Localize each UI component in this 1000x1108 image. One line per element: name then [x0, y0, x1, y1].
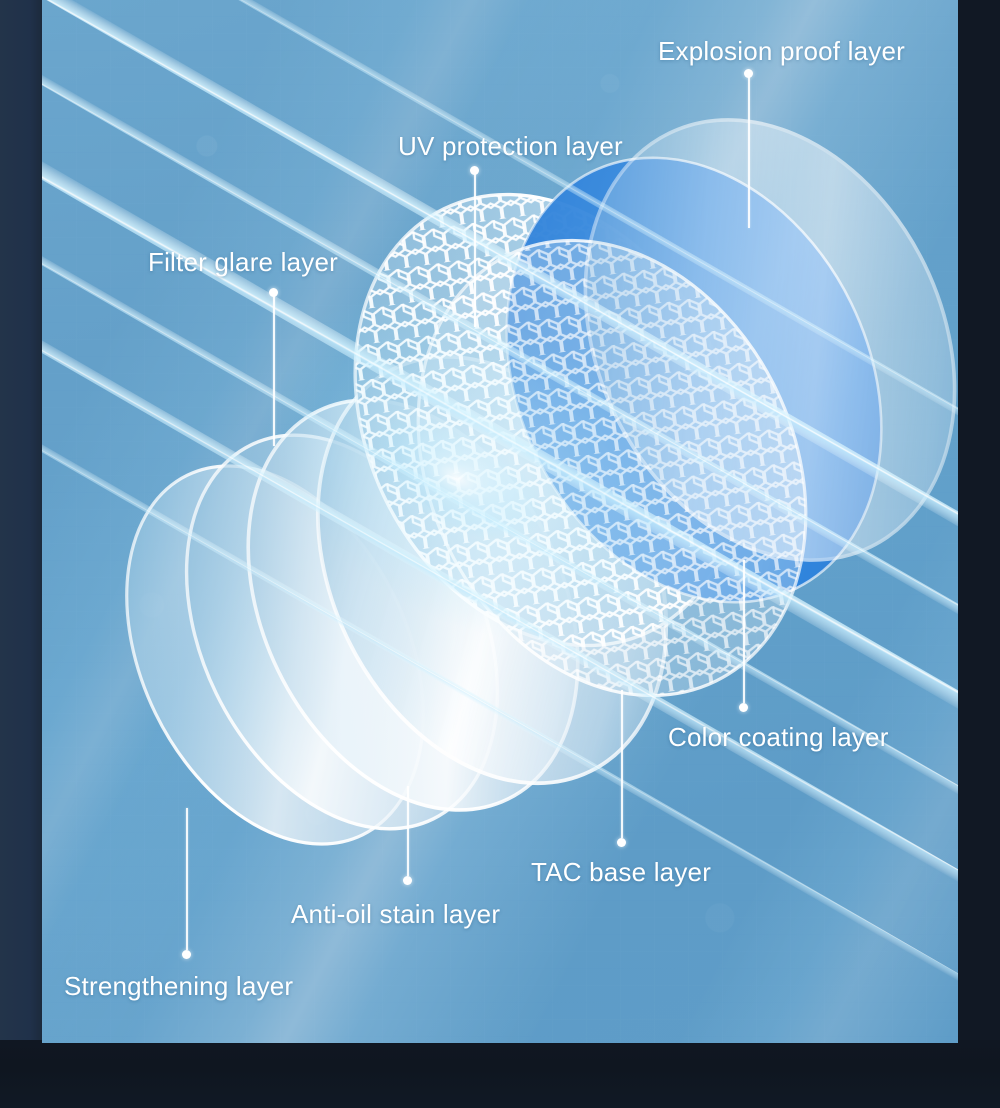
diagram-stage: Explosion proof layer UV protection laye… — [0, 0, 1000, 1108]
label-uv-protection-layer: UV protection layer — [398, 131, 623, 162]
label-color-coating-layer: Color coating layer — [668, 722, 889, 753]
label-strengthening-layer: Strengthening layer — [64, 971, 293, 1002]
label-filter-glare-layer: Filter glare layer — [148, 247, 338, 278]
outer-frame-bottom — [0, 1040, 1000, 1108]
label-tac-base-layer: TAC base layer — [531, 857, 711, 888]
label-explosion-proof-layer: Explosion proof layer — [658, 36, 905, 67]
label-anti-oil-stain-layer: Anti-oil stain layer — [291, 899, 500, 930]
